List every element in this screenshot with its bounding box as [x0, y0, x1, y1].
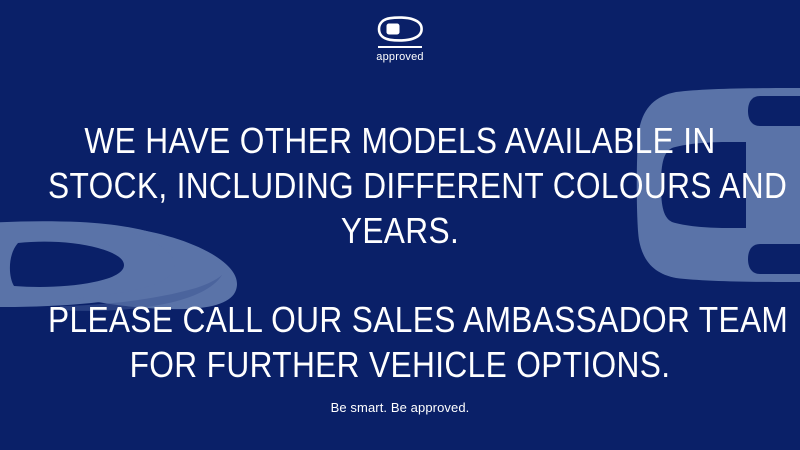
logo-wordmark: approved — [376, 50, 423, 64]
brand-tagline: Be smart. Be approved. — [0, 399, 800, 417]
headline-line: WE HAVE OTHER MODELS AVAILABLE IN — [48, 118, 752, 163]
headline-line: STOCK, INCLUDING DIFFERENT COLOURS AND — [48, 163, 752, 208]
headline-line: FOR FURTHER VEHICLE OPTIONS. — [48, 342, 752, 387]
headline-line: YEARS. — [48, 208, 752, 253]
headline-spacer — [0, 253, 800, 297]
brand-logo-lockup: approved — [0, 16, 800, 64]
headline-block: WE HAVE OTHER MODELS AVAILABLE IN STOCK,… — [0, 118, 800, 387]
headline-paragraph-two: PLEASE CALL OUR SALES AMBASSADOR TEAM FO… — [0, 297, 800, 387]
car-top-view-icon — [377, 16, 423, 42]
logo-divider-rule — [378, 46, 422, 48]
promo-slide: approved WE HAVE OTHER MODELS AVAILABLE … — [0, 0, 800, 450]
headline-line: PLEASE CALL OUR SALES AMBASSADOR TEAM — [48, 297, 752, 342]
headline-paragraph-one: WE HAVE OTHER MODELS AVAILABLE IN STOCK,… — [0, 118, 800, 253]
